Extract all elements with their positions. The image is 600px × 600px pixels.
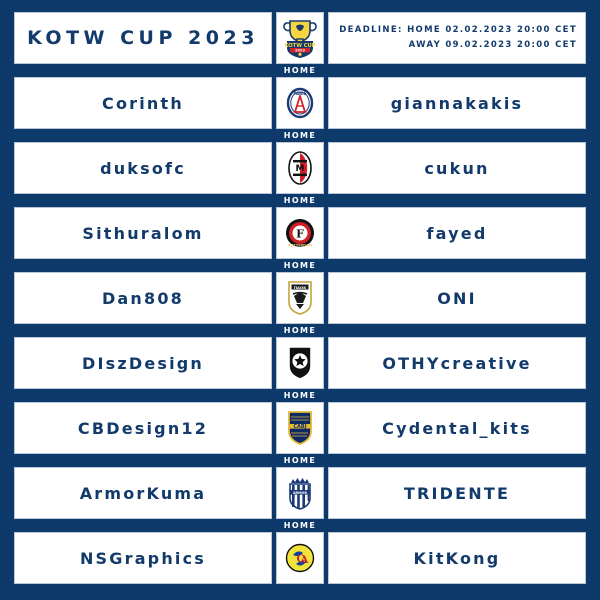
away-team-cell[interactable]: ONI [328, 272, 586, 324]
botafogo-badge-icon [287, 346, 313, 380]
deadline-away-line: AWAY 09.02.2023 20:00 CET [409, 38, 577, 53]
away-team-name: cukun [424, 159, 489, 178]
match-list: Corinth HOME PARIS [14, 77, 586, 584]
home-indicator-label: HOME [276, 194, 324, 207]
badge-column: HOME M [276, 128, 324, 194]
feyenoord-badge-icon: F ROTTERDAM [285, 217, 315, 249]
svg-text:ROTTERDAM: ROTTERDAM [288, 244, 313, 248]
crowned-shield-badge-icon: ARMOR [287, 476, 313, 510]
club-badge-cell[interactable] [276, 337, 324, 389]
boca-juniors-badge-icon: CABJ [287, 411, 313, 445]
home-team-cell[interactable]: Corinth [14, 77, 272, 129]
home-indicator-label: HOME [276, 519, 324, 532]
away-team-cell[interactable]: cukun [328, 142, 586, 194]
home-indicator-label: HOME [276, 259, 324, 272]
away-team-cell[interactable]: TRIDENTE [328, 467, 586, 519]
away-team-name: KitKong [414, 549, 501, 568]
away-team-name: TRIDENTE [404, 484, 510, 503]
club-badge-cell[interactable]: ΠΑΟΚ [276, 272, 324, 324]
home-team-cell[interactable]: Sithuralom [14, 207, 272, 259]
club-america-badge-icon: C A [285, 542, 315, 574]
away-team-name: Cydental_kits [382, 419, 532, 438]
table-row[interactable]: Dan808 HOME ΠΑΟΚ [14, 272, 586, 324]
club-badge-cell[interactable]: CABJ [276, 402, 324, 454]
club-badge-cell[interactable]: M [276, 142, 324, 194]
ac-milan-badge-icon: M [287, 151, 313, 185]
cup-logo-cell: KOTW CUP 2023 [276, 12, 324, 64]
home-indicator-label: HOME [276, 64, 324, 77]
home-indicator-label: HOME [276, 324, 324, 337]
club-badge-cell[interactable]: ARMOR [276, 467, 324, 519]
home-team-name: duksofc [100, 159, 186, 178]
badge-column: HOME ΠΑΟΚ [276, 258, 324, 324]
cup-fixtures-board: KOTW CUP 2023 KOTW CUP 2023 [0, 0, 600, 600]
away-team-name: ONI [437, 289, 477, 308]
table-row[interactable]: DIszDesign HOME OTHYcreative [14, 337, 586, 389]
table-row[interactable]: NSGraphics HOME C A [14, 532, 586, 584]
home-team-cell[interactable]: DIszDesign [14, 337, 272, 389]
svg-text:F: F [296, 228, 304, 241]
table-row[interactable]: duksofc HOME M c [14, 142, 586, 194]
svg-text:ARMOR: ARMOR [293, 491, 307, 495]
home-indicator-label: HOME [276, 454, 324, 467]
home-indicator-label: HOME [276, 389, 324, 402]
svg-text:CABJ: CABJ [293, 424, 306, 430]
svg-text:PARIS: PARIS [293, 91, 306, 96]
table-row[interactable]: Corinth HOME PARIS [14, 77, 586, 129]
table-row[interactable]: CBDesign12 HOME CABJ Cydental_k [14, 402, 586, 454]
psg-badge-icon: PARIS [285, 87, 315, 119]
badge-column: HOME C A [276, 518, 324, 584]
home-team-cell[interactable]: ArmorKuma [14, 467, 272, 519]
deadline-cell: DEADLINE: HOME 02.02.2023 20:00 CET AWAY… [328, 12, 586, 64]
svg-text:A: A [300, 555, 309, 566]
away-team-cell[interactable]: OTHYcreative [328, 337, 586, 389]
away-team-cell[interactable]: Cydental_kits [328, 402, 586, 454]
deadline-home-line: DEADLINE: HOME 02.02.2023 20:00 CET [339, 23, 577, 38]
page-title: KOTW CUP 2023 [27, 27, 259, 49]
badge-column: HOME F ROTTERDAM [276, 193, 324, 259]
kotw-cup-trophy-icon: KOTW CUP 2023 [283, 18, 317, 58]
home-team-name: DIszDesign [82, 354, 204, 373]
home-team-name: ArmorKuma [80, 484, 207, 503]
club-badge-cell[interactable]: PARIS [276, 77, 324, 129]
club-badge-cell[interactable]: F ROTTERDAM [276, 207, 324, 259]
home-indicator-label: HOME [276, 129, 324, 142]
home-team-name: Sithuralom [82, 224, 203, 243]
svg-text:M: M [296, 164, 305, 174]
badge-column: HOME [276, 323, 324, 389]
home-team-cell[interactable]: duksofc [14, 142, 272, 194]
badge-column: HOME ARMOR [276, 453, 324, 519]
home-team-name: NSGraphics [80, 549, 206, 568]
away-team-cell[interactable]: KitKong [328, 532, 586, 584]
away-team-cell[interactable]: giannakakis [328, 77, 586, 129]
svg-text:2023: 2023 [295, 49, 306, 53]
badge-column: HOME PARIS [276, 63, 324, 129]
table-row[interactable]: Sithuralom HOME F ROTTERDAM [14, 207, 586, 259]
away-team-cell[interactable]: fayed [328, 207, 586, 259]
badge-column: HOME CABJ [276, 388, 324, 454]
svg-text:ΠΑΟΚ: ΠΑΟΚ [294, 285, 307, 290]
home-team-cell[interactable]: Dan808 [14, 272, 272, 324]
club-badge-cell[interactable]: C A [276, 532, 324, 584]
title-cell: KOTW CUP 2023 [14, 12, 272, 64]
paok-badge-icon: ΠΑΟΚ [287, 281, 313, 315]
away-team-name: OTHYcreative [382, 354, 531, 373]
home-team-name: Corinth [102, 94, 184, 113]
table-row[interactable]: ArmorKuma HOME ARMOR [14, 467, 586, 519]
away-team-name: fayed [427, 224, 488, 243]
home-team-name: CBDesign12 [78, 419, 208, 438]
away-team-name: giannakakis [391, 94, 524, 113]
home-team-cell[interactable]: NSGraphics [14, 532, 272, 584]
home-team-name: Dan808 [102, 289, 184, 308]
board-header: KOTW CUP 2023 KOTW CUP 2023 [14, 12, 586, 64]
home-team-cell[interactable]: CBDesign12 [14, 402, 272, 454]
